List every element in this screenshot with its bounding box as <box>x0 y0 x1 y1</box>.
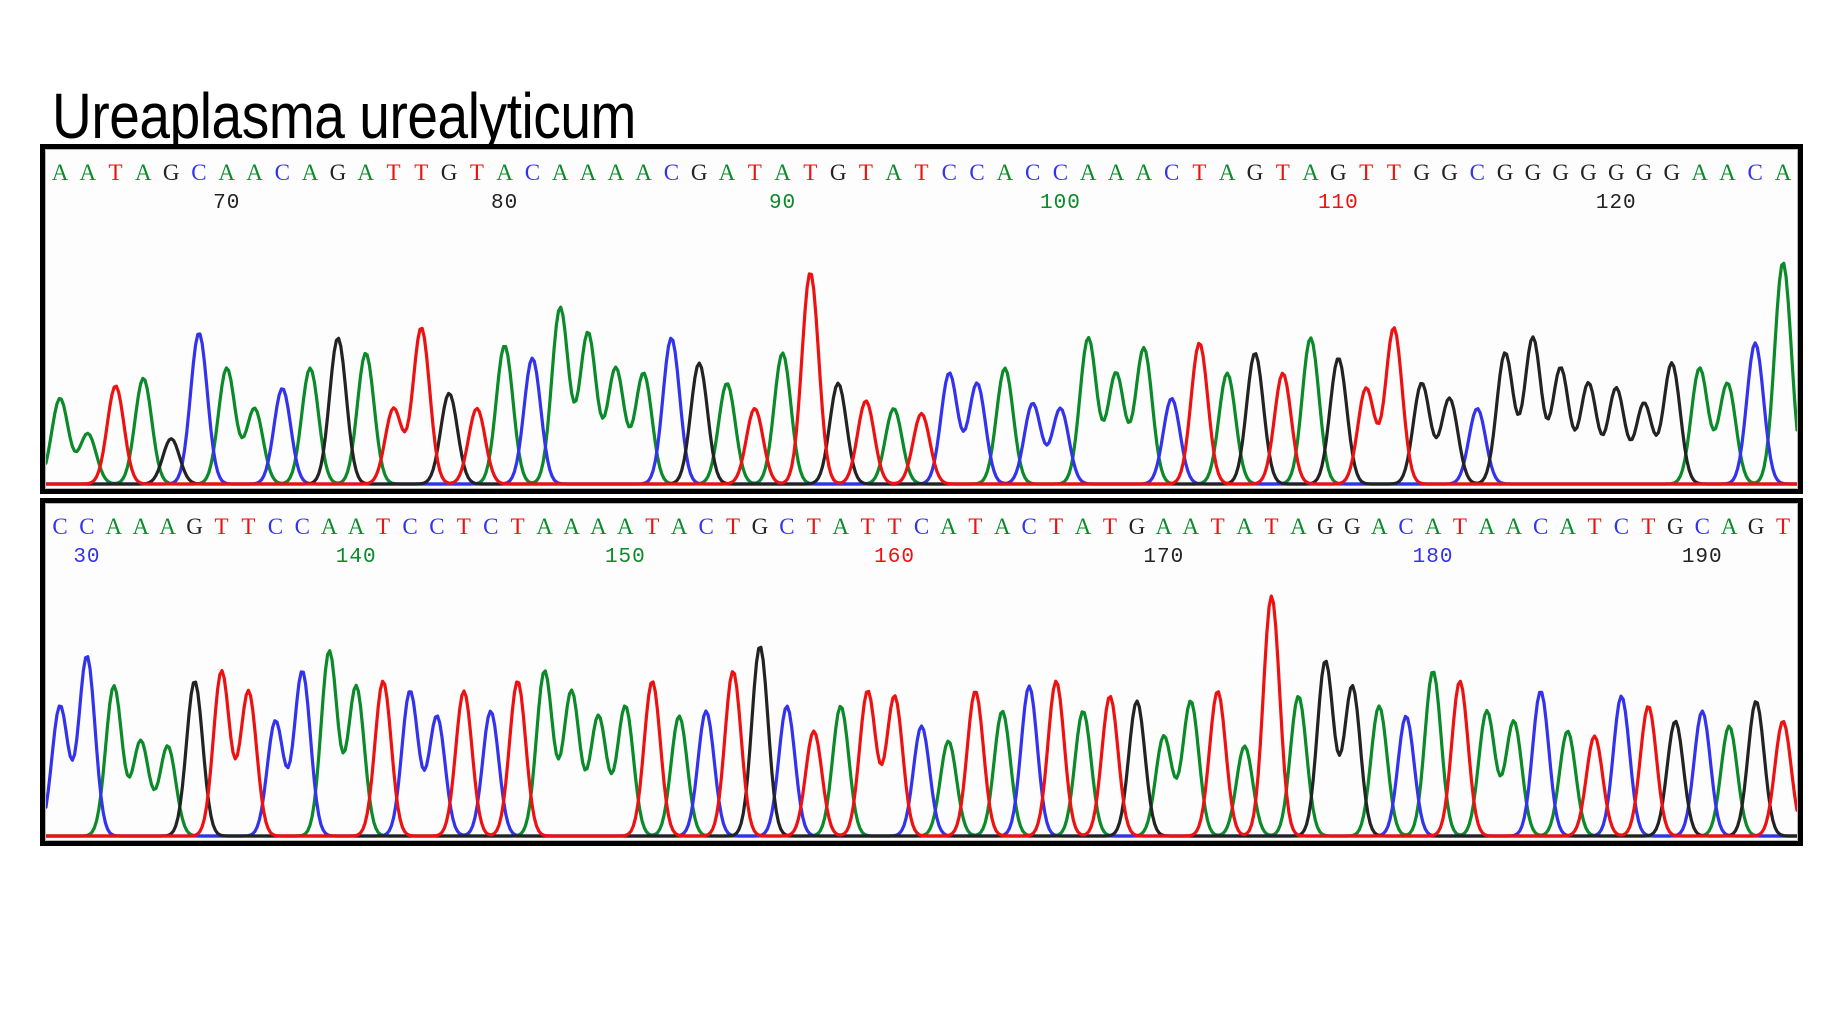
ruler-tick-100: 100 <box>1040 192 1081 216</box>
base-call-a: A <box>563 514 580 540</box>
base-call-a: A <box>52 160 69 186</box>
base-call-a: A <box>106 514 123 540</box>
base-call-g: G <box>163 160 180 186</box>
base-call-c: C <box>191 160 206 186</box>
chromatogram-stack: AATAGCAACAGATTGTACAAAACGATATGTATCCACCAAA… <box>40 144 1803 850</box>
base-call-t: T <box>457 514 471 540</box>
base-call-a: A <box>552 160 569 186</box>
base-call-g: G <box>1441 160 1458 186</box>
base-call-a: A <box>1721 514 1738 540</box>
base-call-c: C <box>1614 514 1629 540</box>
position-ruler-top: 708090100110120 <box>46 192 1797 216</box>
base-call-t: T <box>215 514 229 540</box>
ruler-tick-120: 120 <box>1596 192 1637 216</box>
ruler-tick-170: 170 <box>1143 546 1184 570</box>
base-call-c: C <box>402 514 417 540</box>
base-call-t: T <box>376 514 390 540</box>
base-call-t: T <box>1103 514 1117 540</box>
base-call-g: G <box>830 160 847 186</box>
trace-channel-c <box>46 334 1797 484</box>
base-call-a: A <box>1080 160 1097 186</box>
base-call-a: A <box>1559 514 1576 540</box>
base-call-g: G <box>441 160 458 186</box>
base-call-t: T <box>859 160 873 186</box>
base-call-c: C <box>268 514 283 540</box>
base-call-g: G <box>330 160 347 186</box>
base-call-t: T <box>511 514 525 540</box>
position-ruler-bottom: 30140150160170180190 <box>46 546 1797 570</box>
base-call-c: C <box>1025 160 1040 186</box>
base-call-a: A <box>719 160 736 186</box>
base-call-t: T <box>1276 160 1290 186</box>
base-call-g: G <box>752 514 769 540</box>
base-call-c: C <box>914 514 929 540</box>
base-call-c: C <box>295 514 310 540</box>
base-call-a: A <box>940 514 957 540</box>
base-call-a: A <box>1219 160 1236 186</box>
ruler-tick-150: 150 <box>605 546 646 570</box>
base-call-c: C <box>969 160 984 186</box>
base-call-g: G <box>1636 160 1653 186</box>
base-call-c: C <box>698 514 713 540</box>
base-call-a: A <box>1302 160 1319 186</box>
base-call-g: G <box>186 514 203 540</box>
base-call-c: C <box>483 514 498 540</box>
base-call-t: T <box>1192 160 1206 186</box>
trace-panel-bottom[interactable]: CCAAAGTTCCAATCCTCTAAAATACTGCTATTCATACTAT… <box>40 498 1803 846</box>
base-call-a: A <box>1425 514 1442 540</box>
base-call-t: T <box>414 160 428 186</box>
base-call-g: G <box>1497 160 1514 186</box>
base-call-a: A <box>885 160 902 186</box>
base-call-t: T <box>726 514 740 540</box>
base-call-t: T <box>386 160 400 186</box>
trace-curves-bottom <box>46 572 1797 840</box>
base-call-a: A <box>79 160 96 186</box>
trace-channel-g <box>46 337 1797 484</box>
trace-panel-top[interactable]: AATAGCAACAGATTGTACAAAACGATATGTATCCACCAAA… <box>40 144 1803 494</box>
trace-panel-bottom-inner: CCAAAGTTCCAATCCTCTAAAATACTGCTATTCATACTAT… <box>45 503 1798 841</box>
base-call-a: A <box>1236 514 1253 540</box>
base-call-c: C <box>779 514 794 540</box>
ruler-tick-70: 70 <box>213 192 240 216</box>
base-call-a: A <box>159 514 176 540</box>
basecall-row-bottom: CCAAAGTTCCAATCCTCTAAAATACTGCTATTCATACTAT… <box>46 514 1797 540</box>
base-call-g: G <box>1247 160 1264 186</box>
base-call-c: C <box>275 160 290 186</box>
base-call-a: A <box>1479 514 1496 540</box>
ruler-tick-110: 110 <box>1318 192 1359 216</box>
base-call-g: G <box>1317 514 1334 540</box>
base-call-c: C <box>1022 514 1037 540</box>
base-call-g: G <box>1667 514 1684 540</box>
base-call-c: C <box>1164 160 1179 186</box>
base-call-t: T <box>748 160 762 186</box>
ruler-tick-140: 140 <box>336 546 377 570</box>
base-call-t: T <box>1641 514 1655 540</box>
base-call-a: A <box>1136 160 1153 186</box>
base-call-a: A <box>321 514 338 540</box>
base-call-g: G <box>691 160 708 186</box>
ruler-tick-90: 90 <box>769 192 796 216</box>
base-call-g: G <box>1525 160 1542 186</box>
base-call-t: T <box>1453 514 1467 540</box>
base-call-c: C <box>1398 514 1413 540</box>
ruler-tick-180: 180 <box>1413 546 1454 570</box>
base-call-a: A <box>536 514 553 540</box>
ruler-tick-160: 160 <box>874 546 915 570</box>
base-call-a: A <box>607 160 624 186</box>
base-call-c: C <box>52 514 67 540</box>
trace-panel-top-inner: AATAGCAACAGATTGTACAAAACGATATGTATCCACCAAA… <box>45 149 1798 489</box>
base-call-t: T <box>1588 514 1602 540</box>
base-call-c: C <box>79 514 94 540</box>
base-call-c: C <box>1748 160 1763 186</box>
base-call-t: T <box>645 514 659 540</box>
base-call-t: T <box>807 514 821 540</box>
base-call-g: G <box>1344 514 1361 540</box>
base-call-a: A <box>1371 514 1388 540</box>
base-call-c: C <box>942 160 957 186</box>
trace-channel-c <box>46 657 1797 836</box>
base-call-a: A <box>1775 160 1792 186</box>
base-call-t: T <box>1776 514 1790 540</box>
base-call-a: A <box>132 514 149 540</box>
base-call-a: A <box>671 514 688 540</box>
base-call-g: G <box>1748 514 1765 540</box>
base-call-a: A <box>218 160 235 186</box>
base-call-a: A <box>997 160 1014 186</box>
base-call-t: T <box>914 160 928 186</box>
base-call-a: A <box>302 160 319 186</box>
base-call-a: A <box>1505 514 1522 540</box>
base-call-t: T <box>1387 160 1401 186</box>
base-call-a: A <box>1691 160 1708 186</box>
base-call-a: A <box>774 160 791 186</box>
base-call-g: G <box>1580 160 1597 186</box>
base-call-c: C <box>1470 160 1485 186</box>
base-call-t: T <box>470 160 484 186</box>
base-call-a: A <box>617 514 634 540</box>
ruler-tick-80: 80 <box>491 192 518 216</box>
base-call-g: G <box>1413 160 1430 186</box>
base-call-a: A <box>832 514 849 540</box>
trace-channel-t <box>46 274 1797 484</box>
base-call-c: C <box>1533 514 1548 540</box>
base-call-t: T <box>803 160 817 186</box>
base-call-g: G <box>1552 160 1569 186</box>
base-call-a: A <box>635 160 652 186</box>
ruler-tick-190: 190 <box>1682 546 1723 570</box>
base-call-g: G <box>1608 160 1625 186</box>
base-call-c: C <box>525 160 540 186</box>
base-call-g: G <box>1129 514 1146 540</box>
base-call-a: A <box>348 514 365 540</box>
base-call-a: A <box>1182 514 1199 540</box>
base-call-t: T <box>888 514 902 540</box>
ruler-tick-30: 30 <box>73 546 100 570</box>
base-call-a: A <box>135 160 152 186</box>
base-call-a: A <box>1108 160 1125 186</box>
base-call-t: T <box>968 514 982 540</box>
base-call-a: A <box>580 160 597 186</box>
base-call-t: T <box>1359 160 1373 186</box>
base-call-c: C <box>664 160 679 186</box>
base-call-a: A <box>357 160 374 186</box>
base-call-a: A <box>1290 514 1307 540</box>
basecall-row-top: AATAGCAACAGATTGTACAAAACGATATGTATCCACCAAA… <box>46 160 1797 186</box>
base-call-a: A <box>246 160 263 186</box>
base-call-c: C <box>1695 514 1710 540</box>
base-call-a: A <box>994 514 1011 540</box>
base-call-t: T <box>109 160 123 186</box>
base-call-a: A <box>590 514 607 540</box>
base-call-a: A <box>1155 514 1172 540</box>
trace-curves-top <box>46 218 1797 488</box>
base-call-t: T <box>1264 514 1278 540</box>
base-call-g: G <box>1664 160 1681 186</box>
base-call-c: C <box>429 514 444 540</box>
base-call-a: A <box>1075 514 1092 540</box>
base-call-c: C <box>1053 160 1068 186</box>
base-call-a: A <box>496 160 513 186</box>
trace-channel-a <box>46 263 1797 484</box>
base-call-t: T <box>1211 514 1225 540</box>
base-call-a: A <box>1719 160 1736 186</box>
base-call-t: T <box>861 514 875 540</box>
base-call-g: G <box>1330 160 1347 186</box>
base-call-t: T <box>1049 514 1063 540</box>
base-call-t: T <box>241 514 255 540</box>
